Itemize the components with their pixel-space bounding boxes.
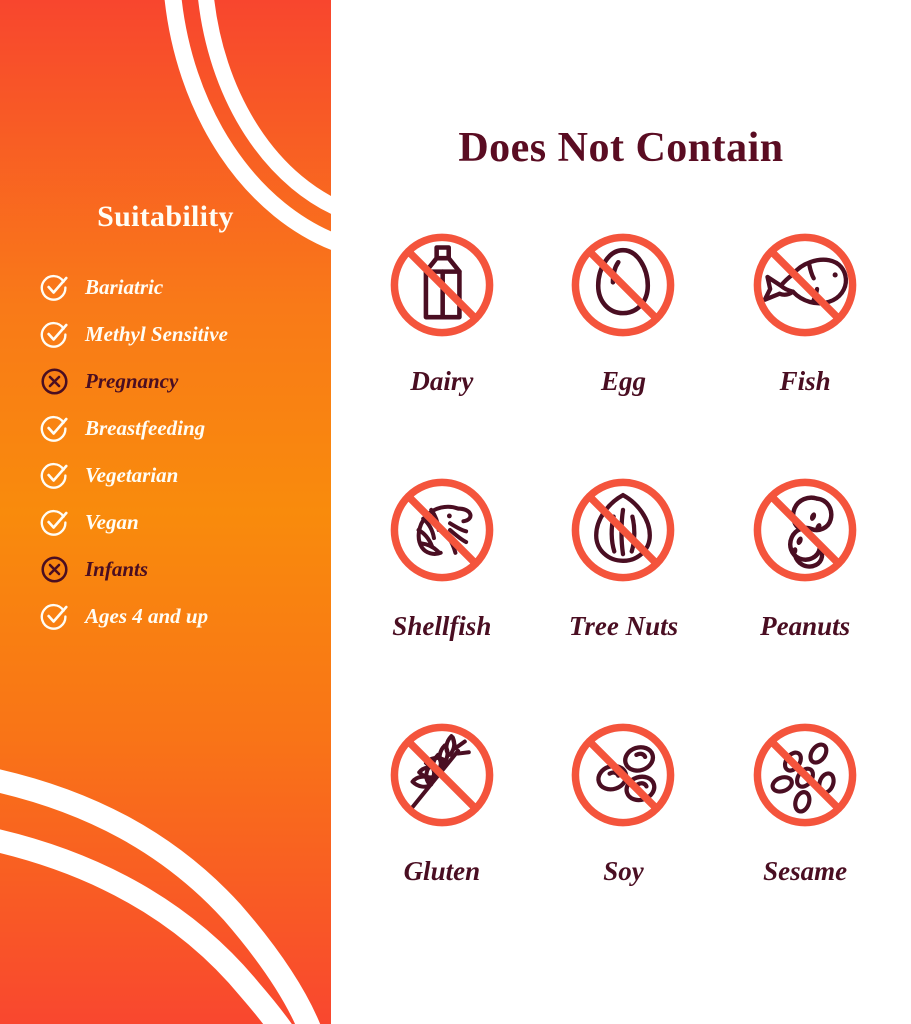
no-tree-nuts-icon xyxy=(556,463,690,597)
no-sesame-icon xyxy=(738,708,872,842)
allergen-item-sesame: Sesame xyxy=(714,708,896,953)
does-not-contain-panel: Does Not Contain Dairy xyxy=(331,0,911,1024)
allergen-grid: Dairy Egg xyxy=(351,218,896,953)
no-peanuts-icon xyxy=(738,463,872,597)
allergen-item-egg: Egg xyxy=(533,218,715,463)
x-circle-icon xyxy=(40,367,69,396)
no-fish-icon xyxy=(738,218,872,352)
no-shellfish-icon xyxy=(375,463,509,597)
allergen-item-peanuts: Peanuts xyxy=(714,463,896,708)
suitability-list: Bariatric Methyl Sensitive P xyxy=(0,264,331,640)
suitability-item-methyl-sensitive: Methyl Sensitive xyxy=(40,311,331,358)
x-circle-icon xyxy=(40,555,69,584)
suitability-item-label: Pregnancy xyxy=(85,371,178,392)
allergen-label: Fish xyxy=(780,366,831,397)
suitability-item-breastfeeding: Breastfeeding xyxy=(40,405,331,452)
check-circle-icon xyxy=(40,508,69,537)
allergen-item-gluten: Gluten xyxy=(351,708,533,953)
allergen-label: Tree Nuts xyxy=(569,611,678,642)
suitability-item-vegetarian: Vegetarian xyxy=(40,452,331,499)
allergen-item-dairy: Dairy xyxy=(351,218,533,463)
allergen-item-soy: Soy xyxy=(533,708,715,953)
suitability-item-infants: Infants xyxy=(40,546,331,593)
suitability-item-label: Breastfeeding xyxy=(85,418,205,439)
suitability-item-label: Infants xyxy=(85,559,148,580)
suitability-item-label: Vegetarian xyxy=(85,465,178,486)
allergen-label: Sesame xyxy=(763,856,847,887)
infographic-page: Suitability Bariatric Methyl xyxy=(0,0,911,1024)
check-circle-icon xyxy=(40,273,69,302)
suitability-item-bariatric: Bariatric xyxy=(40,264,331,311)
suitability-item-ages-4-and-up: Ages 4 and up xyxy=(40,593,331,640)
suitability-item-pregnancy: Pregnancy xyxy=(40,358,331,405)
allergen-label: Shellfish xyxy=(392,611,491,642)
suitability-title: Suitability xyxy=(0,200,331,234)
allergen-label: Egg xyxy=(601,366,646,397)
allergen-label: Dairy xyxy=(410,366,473,397)
check-circle-icon xyxy=(40,320,69,349)
allergen-item-fish: Fish xyxy=(714,218,896,463)
suitability-panel: Suitability Bariatric Methyl xyxy=(0,0,331,1024)
no-soy-icon xyxy=(556,708,690,842)
no-gluten-icon xyxy=(375,708,509,842)
suitability-item-vegan: Vegan xyxy=(40,499,331,546)
allergen-item-tree-nuts: Tree Nuts xyxy=(533,463,715,708)
suitability-block: Suitability Bariatric Methyl xyxy=(0,200,331,640)
suitability-item-label: Methyl Sensitive xyxy=(85,324,228,345)
no-egg-icon xyxy=(556,218,690,352)
suitability-item-label: Bariatric xyxy=(85,277,163,298)
allergen-label: Soy xyxy=(603,856,644,887)
page-title: Does Not Contain xyxy=(331,124,911,172)
check-circle-icon xyxy=(40,461,69,490)
suitability-item-label: Ages 4 and up xyxy=(85,606,208,627)
allergen-label: Gluten xyxy=(404,856,481,887)
allergen-item-shellfish: Shellfish xyxy=(351,463,533,708)
allergen-label: Peanuts xyxy=(760,611,850,642)
suitability-item-label: Vegan xyxy=(85,512,139,533)
no-dairy-icon xyxy=(375,218,509,352)
check-circle-icon xyxy=(40,602,69,631)
check-circle-icon xyxy=(40,414,69,443)
